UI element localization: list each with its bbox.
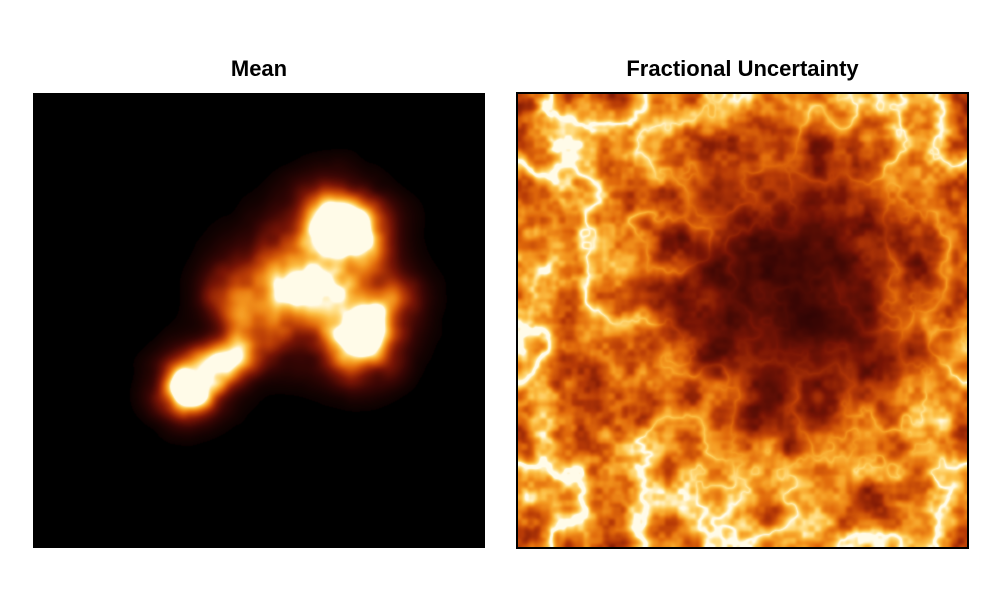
panel-fractional-uncertainty: [516, 92, 969, 549]
heatmap-mean: [33, 93, 485, 548]
panel-title-fractional-uncertainty: Fractional Uncertainty: [517, 58, 968, 80]
figure-root: Mean Fractional Uncertainty: [0, 0, 1000, 600]
panel-title-mean: Mean: [33, 58, 485, 80]
panel-mean: [33, 93, 485, 548]
heatmap-fractional-uncertainty: [518, 94, 967, 547]
